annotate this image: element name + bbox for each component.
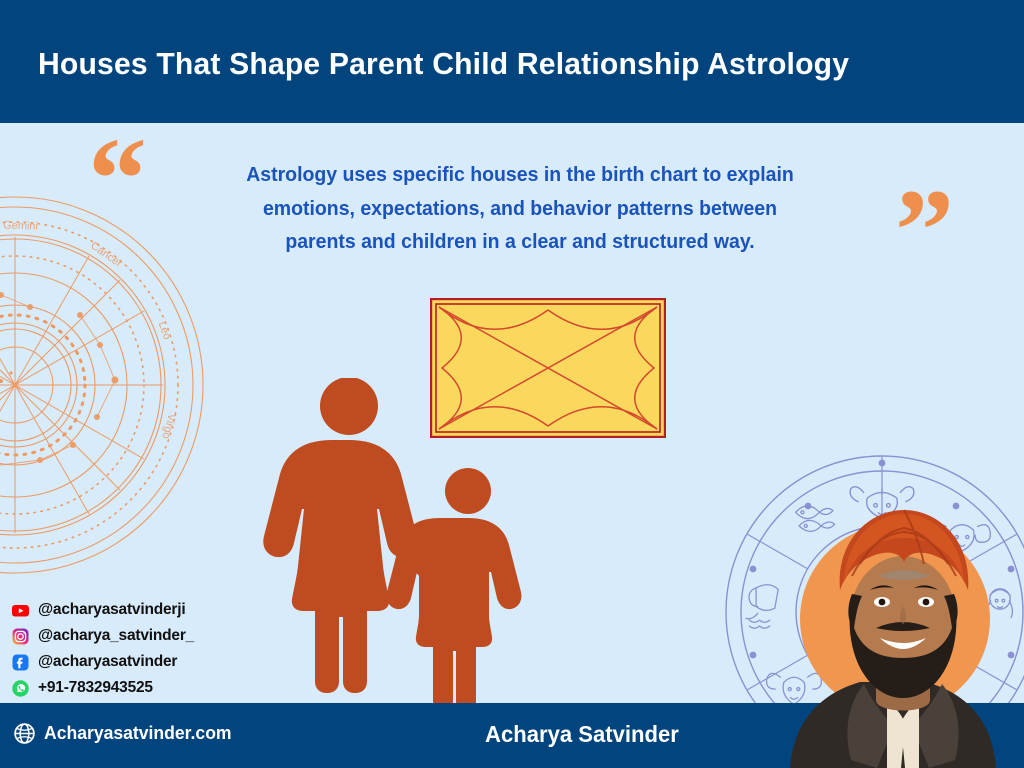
globe-icon [14,723,35,744]
social-link-youtube[interactable]: @acharyasatvinderji [12,598,194,622]
page-title: Houses That Shape Parent Child Relations… [38,46,849,82]
facebook-icon [12,654,29,671]
quote-line: emotions, expectations, and behavior pat… [207,192,834,226]
brand-name: Acharya Satvinder [485,721,679,748]
header-bar: Houses That Shape Parent Child Relations… [0,0,1024,123]
social-handle: @acharya_satvinder_ [38,627,194,645]
portrait-photo [782,498,1024,768]
infographic-canvas: Aries Taurus Gemini Cancer Leo Virgo ♈ ♉… [0,0,1024,768]
social-link-instagram[interactable]: @acharya_satvinder_ [12,624,194,648]
instagram-icon [12,628,29,645]
quote-text: Astrology uses specific houses in the bi… [207,158,834,259]
astrologer-portrait [782,498,1024,768]
social-handle: +91-7832943525 [38,679,153,697]
youtube-icon [12,602,29,619]
quote-line: Astrology uses specific houses in the bi… [207,158,834,192]
website-link[interactable]: Acharyasatvinder.com [14,722,241,744]
social-link-whatsapp[interactable]: +91-7832943525 [12,676,194,700]
quote-close-mark: ” [895,172,954,290]
parent-and-child-silhouette-icon [252,378,552,718]
quote-open-mark: “ [88,120,147,238]
website-url: Acharyasatvinder.com [44,722,232,744]
quote-line: parents and children in a clear and stru… [207,225,834,259]
social-links-list: @acharyasatvinderji [12,598,194,702]
social-handle: @acharyasatvinderji [38,601,185,619]
social-link-facebook[interactable]: @acharyasatvinder [12,650,194,674]
whatsapp-icon [12,680,29,697]
social-handle: @acharyasatvinder [38,653,177,671]
